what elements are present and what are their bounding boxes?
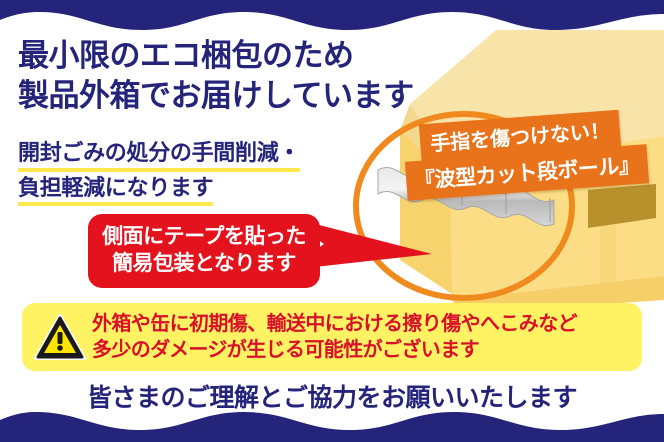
warning-notice-box: 外箱や缶に初期傷、輸送中における擦り傷やへこみなど 多少のダメージが生じる可能性… [22, 303, 642, 371]
subhead-line-1: 開封ごみの処分の手間削減・ [18, 137, 300, 172]
subhead-line-2: 負担軽減になります [18, 172, 213, 207]
warning-triangle-icon [34, 313, 86, 361]
promo-banner: 最小限のエコ梱包のため 製品外箱でお届けしています 開封ごみの処分の手間削減・ … [0, 0, 664, 442]
headline-line-1: 最小限のエコ梱包のため [18, 36, 414, 76]
bottom-wave-shape [0, 412, 664, 442]
headline-line-2: 製品外箱でお届けしています [18, 76, 414, 116]
warning-line-2: 多少のダメージが生じる可能性がございます [92, 337, 577, 363]
page-title: 最小限のエコ梱包のため 製品外箱でお届けしています [18, 36, 414, 117]
callout-line-2: 簡易包装となります [94, 250, 314, 277]
callout-line-1: 側面にテープを貼った [94, 223, 314, 250]
closing-message: 皆さまのご理解とご協力をお願いいたします [0, 378, 664, 414]
warning-line-1: 外箱や缶に初期傷、輸送中における擦り傷やへこみなど [92, 311, 577, 337]
warning-text: 外箱や缶に初期傷、輸送中における擦り傷やへこみなど 多少のダメージが生じる可能性… [92, 311, 577, 364]
red-callout-simple-packaging: 側面にテープを貼った 簡易包装となります [88, 214, 320, 288]
subheading: 開封ごみの処分の手間削減・ 負担軽減になります [18, 137, 300, 206]
